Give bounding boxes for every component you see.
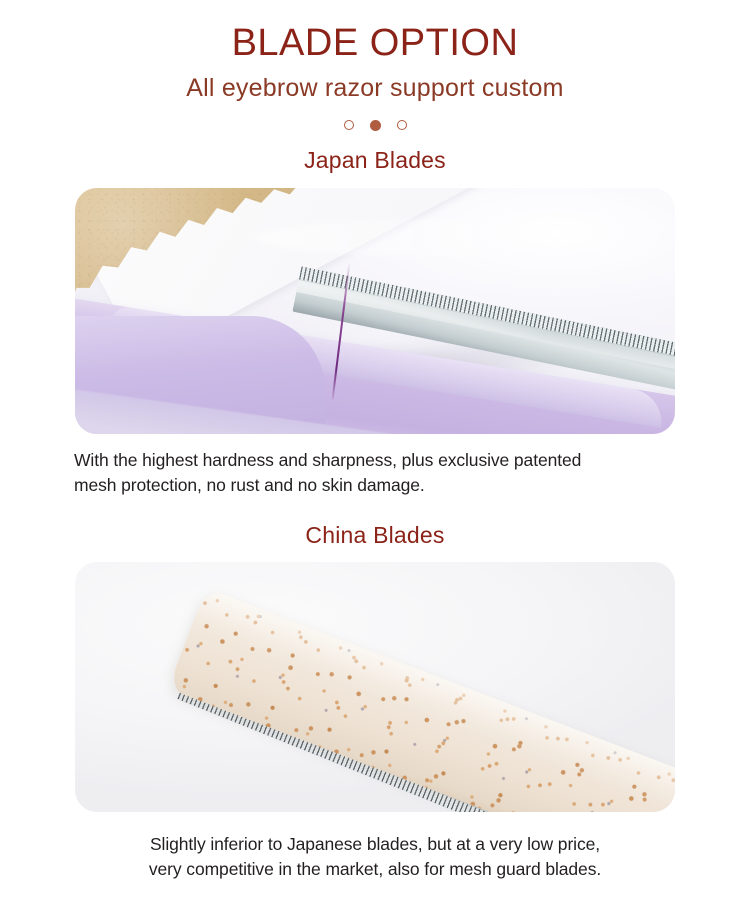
caption-china-blades: Slightly inferior to Japanese blades, bu… [65, 832, 685, 882]
caption-line: With the highest hardness and sharpness,… [74, 448, 685, 473]
carousel-dots [0, 118, 750, 132]
section-heading-japan-blades: Japan Blades [0, 145, 750, 175]
caption-line: very competitive in the market, also for… [65, 857, 685, 882]
page-title: BLADE OPTION [0, 20, 750, 66]
section-heading-china-blades: China Blades [0, 520, 750, 550]
carousel-dot-2-active[interactable] [370, 120, 381, 131]
caption-line: mesh protection, no rust and no skin dam… [74, 473, 685, 498]
caption-line: Slightly inferior to Japanese blades, bu… [65, 832, 685, 857]
handle-gloss-highlight [255, 218, 675, 258]
carousel-dot-1[interactable] [344, 120, 354, 130]
caption-japan-blades: With the highest hardness and sharpness,… [65, 448, 685, 498]
page-subtitle: All eyebrow razor support custom [0, 72, 750, 104]
product-detail-page: BLADE OPTION All eyebrow razor support c… [0, 0, 750, 901]
carousel-dot-3[interactable] [397, 120, 407, 130]
product-photo-china-blade [75, 562, 675, 812]
product-photo-japan-blade [75, 188, 675, 434]
page-header: BLADE OPTION All eyebrow razor support c… [0, 0, 750, 132]
